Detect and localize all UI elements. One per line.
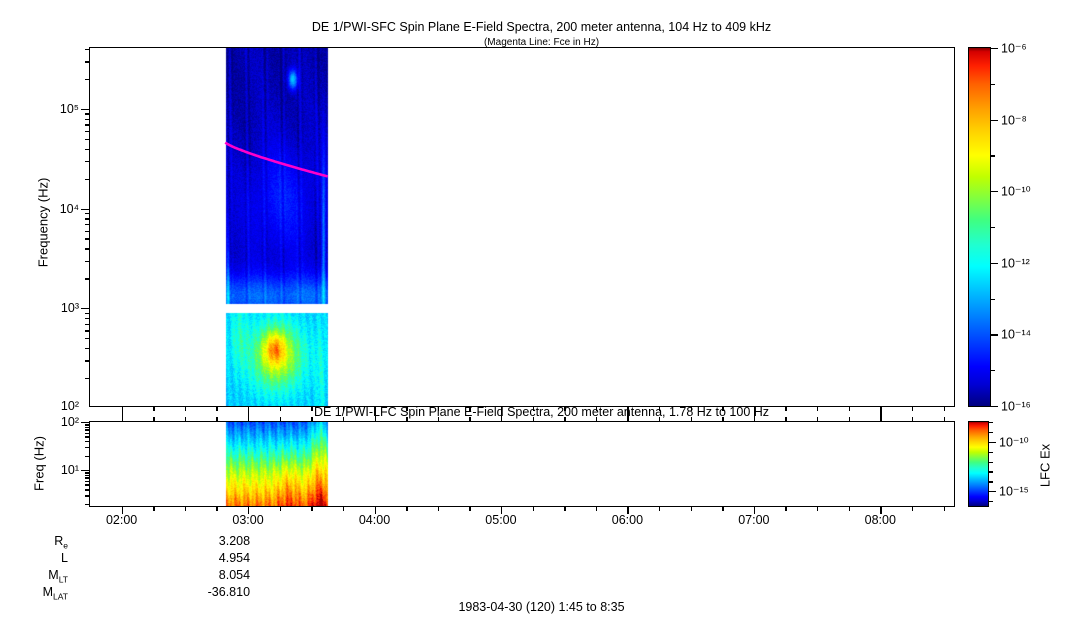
colorbar-tick — [988, 481, 993, 482]
ephemeris-value: 4.954 — [188, 551, 250, 565]
sfc-y-tick — [85, 131, 90, 132]
x-tick — [185, 417, 186, 422]
sfc-plot-area — [90, 48, 954, 406]
x-tick — [343, 417, 344, 422]
colorbar-tick — [988, 462, 993, 463]
lfc-y-tick — [85, 447, 90, 448]
sfc-y-tick — [85, 378, 90, 379]
x-tick — [912, 506, 913, 511]
x-tick — [880, 414, 881, 422]
x-tick — [438, 417, 439, 422]
x-tick — [785, 506, 786, 511]
sfc-panel-title: DE 1/PWI-SFC Spin Plane E-Field Spectra,… — [0, 20, 1083, 34]
colorbar-tick — [990, 120, 998, 121]
lfc-y-tick — [85, 495, 90, 496]
x-axis-tick-label: 02:00 — [106, 513, 137, 527]
sfc-y-tick — [85, 179, 90, 180]
sfc-y-tick-label: 10³ — [61, 301, 79, 315]
sfc-y-tick — [85, 49, 90, 50]
x-tick — [627, 414, 628, 422]
ephemeris-label-main: M — [48, 568, 58, 582]
x-tick — [248, 414, 249, 422]
lfc-y-tick — [85, 504, 90, 505]
x-tick — [944, 506, 945, 511]
x-tick — [216, 506, 217, 511]
sfc-spectrogram-axes[interactable]: 10³10⁴10⁵10² — [89, 47, 955, 407]
lfc-y-tick-label: 10¹ — [61, 463, 79, 477]
lfc-spectrogram-axes[interactable]: 10¹10² — [89, 421, 955, 507]
colorbar-tick — [988, 442, 996, 443]
lfc-y-tick — [85, 477, 90, 478]
ephemeris-label-main: L — [61, 551, 68, 565]
x-tick — [185, 506, 186, 511]
x-tick — [564, 506, 565, 511]
x-tick — [469, 417, 470, 422]
colorbar-tick-label: 10⁻¹² — [1001, 255, 1030, 270]
x-tick — [849, 417, 850, 422]
lfc-plot-area — [90, 422, 954, 506]
x-tick — [596, 417, 597, 422]
x-tick — [817, 506, 818, 511]
sfc-y-tick — [85, 248, 90, 249]
sfc-y-tick — [85, 161, 90, 162]
colorbar-tick — [990, 227, 995, 228]
x-axis-tick-label: 03:00 — [232, 513, 263, 527]
sfc-y-tick — [85, 61, 90, 62]
lfc-y-tick — [85, 441, 90, 442]
x-axis-tick-label: 06:00 — [612, 513, 643, 527]
x-tick — [406, 506, 407, 511]
x-tick — [691, 506, 692, 511]
x-tick — [216, 417, 217, 422]
ephemeris-label: L — [0, 551, 68, 565]
lfc-colorbar-title: LFC Ex — [1038, 406, 1053, 526]
lfc-y-tick — [81, 470, 90, 471]
sfc-y-tick — [85, 330, 90, 331]
lfc-y-tick — [85, 433, 90, 434]
x-tick — [596, 506, 597, 511]
x-tick — [659, 417, 660, 422]
sfc-y-tick — [85, 139, 90, 140]
sfc-colorbar: 10⁻¹⁶10⁻¹⁴10⁻¹²10⁻¹⁰10⁻⁸10⁻⁶ — [968, 47, 991, 407]
sfc-y-tick — [81, 308, 90, 309]
x-tick — [375, 414, 376, 422]
x-tick — [122, 414, 123, 422]
sfc-y-tick — [81, 209, 90, 210]
colorbar-tick-label: 10⁻¹⁰ — [1001, 184, 1031, 199]
colorbar-tick — [990, 48, 998, 49]
sfc-y-tick — [85, 124, 90, 125]
lfc-y-tick — [85, 484, 90, 485]
ephemeris-label-main: R — [54, 534, 63, 548]
x-tick — [501, 414, 502, 422]
x-tick — [406, 417, 407, 422]
sfc-y-tick — [85, 338, 90, 339]
x-tick — [533, 417, 534, 422]
sfc-y-tick — [85, 313, 90, 314]
ephemeris-label-sub: LT — [59, 575, 68, 585]
colorbar-tick — [988, 501, 993, 502]
colorbar-tick-label: 10⁻¹⁰ — [999, 434, 1029, 449]
colorbar-tick — [990, 155, 995, 156]
x-tick — [153, 506, 154, 511]
x-tick — [944, 417, 945, 422]
x-tick — [280, 417, 281, 422]
x-tick — [722, 417, 723, 422]
x-tick — [691, 417, 692, 422]
lfc-y-tick — [85, 424, 90, 425]
x-tick — [311, 506, 312, 511]
colorbar-tick-label: 10⁻¹⁴ — [1001, 327, 1031, 342]
x-tick — [280, 506, 281, 511]
colorbar-tick — [988, 452, 993, 453]
ephemeris-label: MLAT — [0, 585, 68, 599]
ephemeris-label: MLT — [0, 568, 68, 582]
sfc-y-axis-title: Frequency (Hz) — [36, 143, 51, 303]
sfc-y-tick — [85, 238, 90, 239]
colorbar-tick-label: 10⁻¹⁵ — [999, 484, 1029, 499]
x-tick — [912, 417, 913, 422]
x-tick — [785, 417, 786, 422]
sfc-y-tick — [85, 213, 90, 214]
x-tick — [754, 414, 755, 422]
colorbar-tick-label: 10⁻⁸ — [1001, 112, 1027, 127]
sfc-y-tick — [85, 278, 90, 279]
sfc-y-tick — [85, 318, 90, 319]
lfc-y-tick — [85, 489, 90, 490]
sfc-y-tick — [81, 109, 90, 110]
x-tick — [564, 417, 565, 422]
colorbar-tick — [990, 299, 995, 300]
x-axis-tick-label: 05:00 — [485, 513, 516, 527]
sfc-y-tick — [85, 149, 90, 150]
x-tick — [849, 506, 850, 511]
x-axis-tick-label: 07:00 — [738, 513, 769, 527]
colorbar-tick — [988, 471, 993, 472]
x-tick — [438, 506, 439, 511]
sfc-y-tick — [85, 348, 90, 349]
lfc-y-axis-title: Freq (Hz) — [32, 409, 47, 519]
lfc-y-tick — [85, 475, 90, 476]
lfc-y-tick — [85, 481, 90, 482]
ephemeris-value: -36.810 — [188, 585, 250, 599]
lfc-y-tick — [81, 422, 90, 423]
sfc-y-tick — [85, 324, 90, 325]
ephemeris-label-sub: e — [63, 541, 68, 551]
colorbar-tick — [990, 191, 998, 192]
x-tick — [311, 417, 312, 422]
colorbar-tick — [988, 422, 993, 423]
sfc-y-tick — [85, 79, 90, 80]
colorbar-tick — [990, 370, 995, 371]
lfc-colorbar: 10⁻¹⁵10⁻¹⁰ — [968, 421, 989, 507]
sfc-y-tick-label: 10⁵ — [60, 102, 79, 116]
ephemeris-value: 3.208 — [188, 534, 250, 548]
x-tick — [343, 506, 344, 511]
figure-footer: 1983-04-30 (120) 1:45 to 8:35 — [0, 600, 1083, 614]
x-tick — [722, 506, 723, 511]
sfc-y-tick — [85, 224, 90, 225]
colorbar-tick — [988, 432, 993, 433]
sfc-y-tick — [85, 360, 90, 361]
lfc-y-tick — [85, 429, 90, 430]
colorbar-tick-label: 10⁻⁶ — [1001, 41, 1027, 56]
colorbar-tick — [990, 84, 995, 85]
x-tick — [153, 417, 154, 422]
colorbar-tick — [990, 334, 998, 335]
sfc-y-tick — [85, 261, 90, 262]
lfc-spectrogram-image — [90, 422, 954, 506]
sfc-y-tick — [85, 119, 90, 120]
x-axis-tick-label: 04:00 — [359, 513, 390, 527]
sfc-y-tick-label: 10⁴ — [60, 202, 79, 216]
sfc-y-tick — [85, 113, 90, 114]
x-tick — [659, 506, 660, 511]
ephemeris-label: Re — [0, 534, 68, 548]
sfc-y-tick — [85, 218, 90, 219]
x-tick — [469, 506, 470, 511]
lfc-y-tick-label: 10² — [61, 415, 79, 429]
x-axis-tick-label: 08:00 — [865, 513, 896, 527]
x-tick — [817, 417, 818, 422]
fce-line — [90, 48, 954, 406]
ephemeris-value: 8.054 — [188, 568, 250, 582]
lfc-panel-title: DE 1/PWI-LFC Spin Plane E-Field Spectra,… — [0, 405, 1083, 419]
ephemeris-label-main: M — [43, 585, 53, 599]
lfc-y-tick — [85, 472, 90, 473]
lfc-y-tick — [85, 436, 90, 437]
sfc-y-tick — [85, 231, 90, 232]
lfc-y-tick — [85, 427, 90, 428]
lfc-y-tick — [85, 456, 90, 457]
colorbar-tick — [988, 491, 996, 492]
x-tick — [533, 506, 534, 511]
colorbar-tick — [990, 263, 998, 264]
